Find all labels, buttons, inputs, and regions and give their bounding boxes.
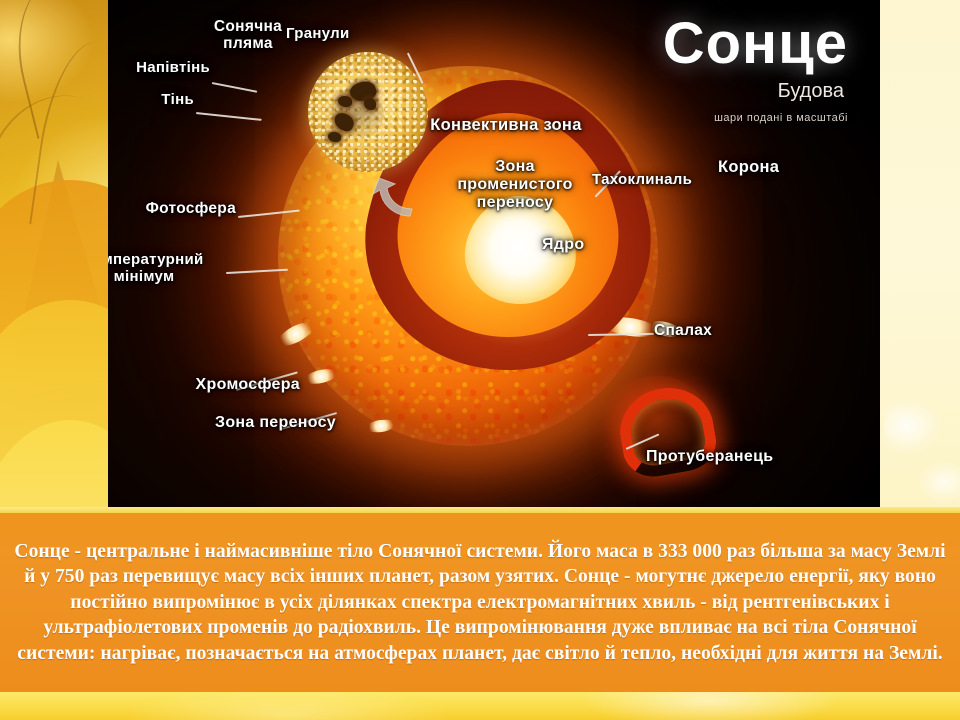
right-panel-glow (884, 370, 960, 510)
label-corona: Корона (718, 158, 779, 176)
label-flare: Спалах (654, 322, 712, 339)
diagram-title: Сонце (663, 10, 848, 77)
label-photosphere: Фотосфера (108, 200, 236, 217)
diagram-subtitle: Будова (778, 80, 844, 103)
magnify-arrow-icon (370, 176, 416, 222)
label-convective-zone: Конвективна зона (408, 116, 604, 134)
footer-strip (0, 692, 960, 720)
label-tachocline: Тахоклиналь (592, 172, 692, 189)
umbra-region-2 (338, 96, 352, 107)
label-radiative-zone: Зона променистого переносу (438, 158, 592, 212)
label-granules: Гранули (286, 26, 350, 43)
diagram-scale-note: шари подані в масштабі (714, 112, 848, 124)
label-chromosphere: Хромосфера (108, 376, 300, 394)
label-core: Ядро (542, 236, 584, 254)
caption-band: Сонце - центральне і наймасивніше тіло С… (0, 513, 960, 692)
sun-structure-diagram: Сонячна пляма Гранули Напівтінь Тінь Фот… (108, 0, 880, 508)
label-penumbra: Напівтінь (108, 60, 210, 77)
sunspot-inset (308, 52, 428, 172)
label-umbra: Тінь (108, 92, 194, 109)
label-transfer-zone: Зона переносу (132, 414, 336, 432)
label-temperature-minimum: Температурний мінімум (108, 252, 230, 286)
umbra-region-3 (364, 98, 376, 110)
slide-root: Сонячна пляма Гранули Напівтінь Тінь Фот… (0, 0, 960, 720)
label-prominence: Протуберанець (646, 448, 773, 466)
caption-paragraph: Сонце - центральне і наймасивніше тіло С… (10, 539, 950, 666)
umbra-region-5 (328, 132, 341, 142)
